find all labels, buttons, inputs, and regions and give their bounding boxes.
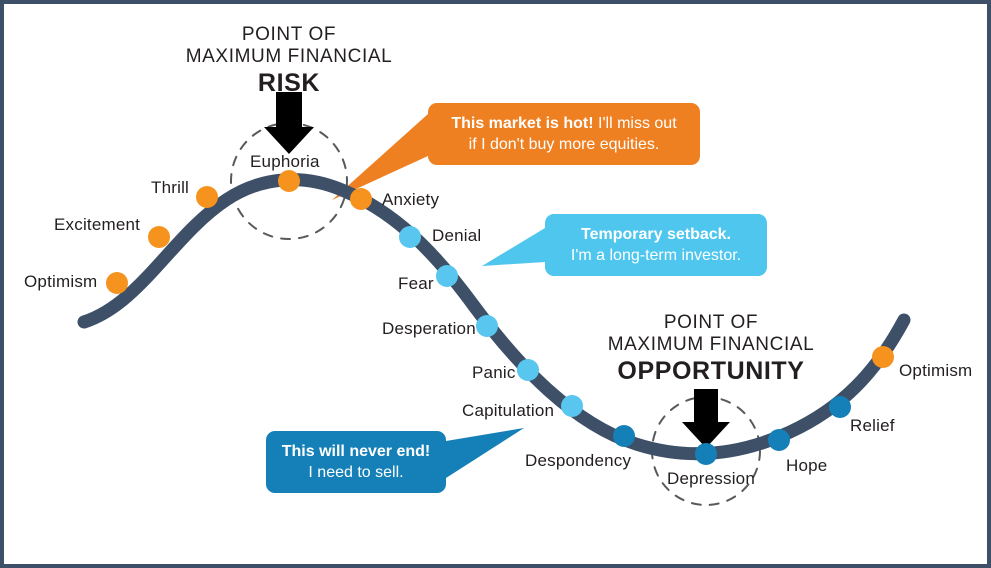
market-emotions-diagram: POINT OF MAXIMUM FINANCIAL RISK POINT OF… (0, 0, 991, 568)
node-dot-relief-13[interactable] (829, 396, 851, 418)
risk-down-arrow (264, 92, 314, 154)
opportunity-line-2: MAXIMUM FINANCIAL (581, 334, 841, 356)
node-label-depression-11: Depression (667, 469, 755, 489)
risk-line-1: POINT OF (159, 24, 419, 46)
callout-never-end: This will never end! I need to sell. (266, 431, 446, 493)
callout-hot-market-line-2: if I don't buy more equities. (469, 134, 660, 155)
pointer-title-opportunity: POINT OF MAXIMUM FINANCIAL OPPORTUNITY (581, 312, 841, 386)
node-label-relief-13: Relief (850, 416, 895, 436)
callout-never-end-line-1: This will never end! (282, 441, 430, 462)
node-label-despondency-10: Despondency (525, 451, 631, 471)
node-dot-depression-11[interactable] (695, 443, 717, 465)
node-dot-optimism-14[interactable] (872, 346, 894, 368)
callout-hot-market: This market is hot! I'll miss out if I d… (428, 103, 700, 165)
callout-temporary-setback-line-2: I'm a long-term investor. (571, 245, 741, 266)
diagram-graphics (4, 4, 991, 568)
node-dot-anxiety-4[interactable] (350, 188, 372, 210)
node-dot-euphoria-3[interactable] (278, 170, 300, 192)
node-label-desperation-7: Desperation (382, 319, 476, 339)
risk-line-2: MAXIMUM FINANCIAL (159, 46, 419, 68)
opportunity-down-arrow (682, 389, 730, 448)
node-label-fear-6: Fear (398, 274, 434, 294)
node-dot-panic-8[interactable] (517, 359, 539, 381)
node-label-optimism-0: Optimism (24, 272, 97, 292)
node-label-excitement-1: Excitement (54, 215, 140, 235)
node-dot-optimism-0[interactable] (106, 272, 128, 294)
node-label-euphoria-3: Euphoria (250, 152, 320, 172)
node-label-thrill-2: Thrill (151, 178, 189, 198)
risk-line-3: RISK (159, 69, 419, 99)
node-dot-desperation-7[interactable] (476, 315, 498, 337)
node-dot-despondency-10[interactable] (613, 425, 635, 447)
callout-never-end-line-2: I need to sell. (308, 462, 403, 483)
opportunity-line-3: OPPORTUNITY (581, 357, 841, 387)
node-dot-hope-12[interactable] (768, 429, 790, 451)
opportunity-line-1: POINT OF (581, 312, 841, 334)
node-label-hope-12: Hope (786, 456, 827, 476)
node-dot-capitulation-9[interactable] (561, 395, 583, 417)
callout-tail-temporary-setback (482, 228, 545, 266)
pointer-title-risk: POINT OF MAXIMUM FINANCIAL RISK (159, 24, 419, 98)
node-label-denial-5: Denial (432, 226, 481, 246)
callout-hot-market-line-1: This market is hot! I'll miss out (451, 113, 676, 134)
node-dot-excitement-1[interactable] (148, 226, 170, 248)
node-label-optimism-14: Optimism (899, 361, 972, 381)
node-label-panic-8: Panic (472, 363, 516, 383)
node-label-anxiety-4: Anxiety (382, 190, 439, 210)
callout-temporary-setback-line-1: Temporary setback. (581, 224, 731, 245)
callout-tail-never-end (446, 428, 524, 478)
node-label-capitulation-9: Capitulation (462, 401, 554, 421)
callout-temporary-setback: Temporary setback. I'm a long-term inves… (545, 214, 767, 276)
node-dot-denial-5[interactable] (399, 226, 421, 248)
node-dot-fear-6[interactable] (436, 265, 458, 287)
node-dot-thrill-2[interactable] (196, 186, 218, 208)
